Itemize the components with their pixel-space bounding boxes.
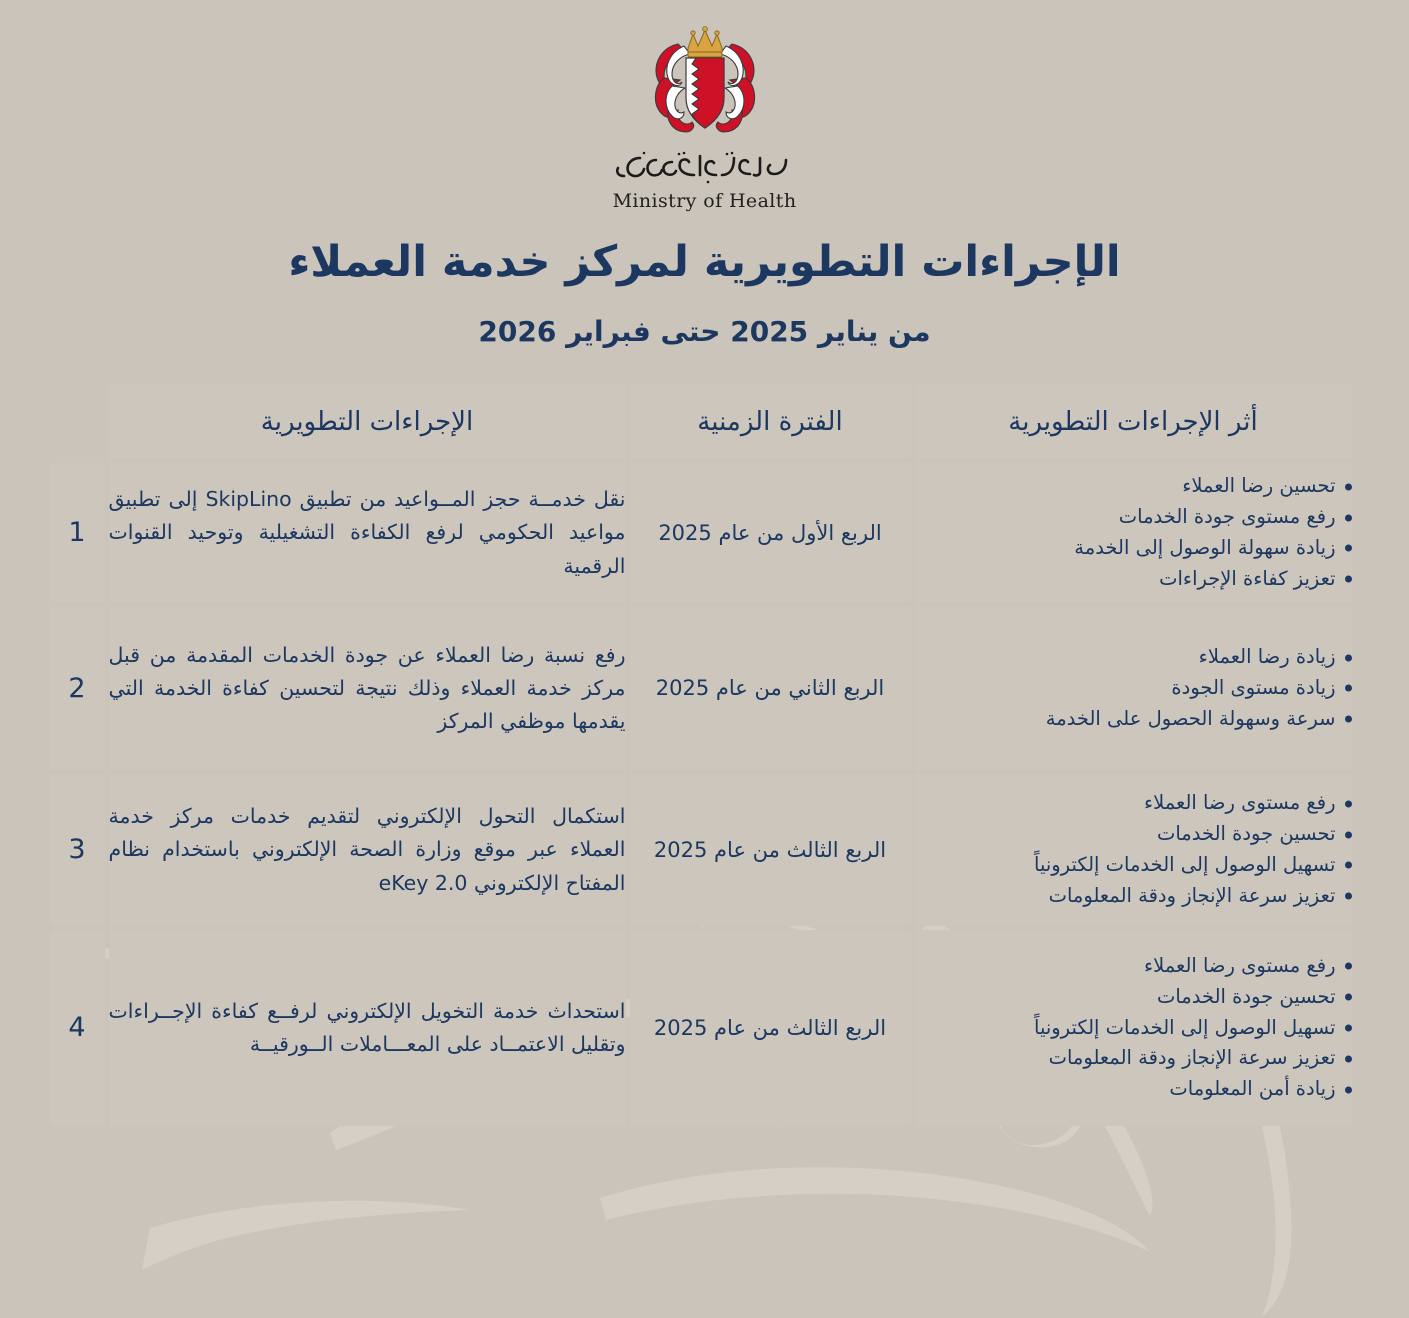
action-cell: رفع نسبة رضا العملاء عن جودة الخدمات الم… (109, 607, 626, 770)
impact-cell: رفع مستوى رضا العملاء تحسين جودة الخدمات… (915, 930, 1352, 1126)
ministry-name-arabic (610, 148, 800, 188)
column-header-action: الإجراءات التطويرية (109, 385, 626, 459)
page-subtitle: من يناير 2025 حتى فبراير 2026 (0, 315, 1409, 348)
list-item: زيادة سهولة الوصول إلى الخدمة (915, 533, 1352, 564)
action-cell: استكمال التحول الإلكتروني لتقديم خدمات م… (109, 774, 626, 926)
impact-cell: رفع مستوى رضا العملاء تحسين جودة الخدمات… (915, 774, 1352, 926)
list-item: زيادة أمن المعلومات (915, 1074, 1352, 1105)
ministry-branding: Ministry of Health (0, 0, 1409, 212)
period-cell: الربع الثاني من عام 2025 (630, 607, 911, 770)
row-number-cell: 2 (50, 607, 105, 770)
table-row: رفع مستوى رضا العملاء تحسين جودة الخدمات… (50, 930, 1352, 1126)
table-row: رفع مستوى رضا العملاء تحسين جودة الخدمات… (50, 774, 1352, 926)
impact-list: تحسين رضا العملاء رفع مستوى جودة الخدمات… (915, 471, 1352, 594)
list-item: رفع مستوى رضا العملاء (915, 951, 1352, 982)
list-item: تحسين جودة الخدمات (915, 819, 1352, 850)
impact-list: رفع مستوى رضا العملاء تحسين جودة الخدمات… (915, 951, 1352, 1105)
table-header: أثر الإجراءات التطويرية الفترة الزمنية ا… (50, 385, 1352, 459)
list-item: زيادة مستوى الجودة (915, 673, 1352, 704)
list-item: تسهيل الوصول إلى الخدمات إلكترونياً (915, 850, 1352, 881)
list-item: تعزيز سرعة الإنجاز ودقة المعلومات (915, 881, 1352, 912)
document-page: Ministry of Health الإجراءات التطويرية ل… (0, 0, 1409, 1278)
list-item: تسهيل الوصول إلى الخدمات إلكترونياً (915, 1013, 1352, 1044)
column-header-period: الفترة الزمنية (630, 385, 911, 459)
period-cell: الربع الثالث من عام 2025 (630, 774, 911, 926)
list-item: تعزيز كفاءة الإجراءات (915, 564, 1352, 595)
period-cell: الربع الأول من عام 2025 (630, 463, 911, 603)
row-number-cell: 3 (50, 774, 105, 926)
impact-list: زيادة رضا العملاء زيادة مستوى الجودة سرع… (915, 642, 1352, 734)
impact-list: رفع مستوى رضا العملاء تحسين جودة الخدمات… (915, 788, 1352, 911)
column-header-impact: أثر الإجراءات التطويرية (915, 385, 1352, 459)
impact-cell: زيادة رضا العملاء زيادة مستوى الجودة سرع… (915, 607, 1352, 770)
row-number-cell: 1 (50, 463, 105, 603)
improvements-table-wrapper: أثر الإجراءات التطويرية الفترة الزمنية ا… (54, 381, 1356, 1130)
action-cell: نقل خدمــة حجز المــواعيد من تطبيق SkipL… (109, 463, 626, 603)
list-item: رفع مستوى رضا العملاء (915, 788, 1352, 819)
improvements-table: أثر الإجراءات التطويرية الفترة الزمنية ا… (46, 381, 1356, 1130)
list-item: تحسين جودة الخدمات (915, 982, 1352, 1013)
bahrain-coat-of-arms-icon (644, 26, 766, 144)
list-item: رفع مستوى جودة الخدمات (915, 502, 1352, 533)
row-number-cell: 4 (50, 930, 105, 1126)
impact-cell: تحسين رضا العملاء رفع مستوى جودة الخدمات… (915, 463, 1352, 603)
list-item: سرعة وسهولة الحصول على الخدمة (915, 704, 1352, 735)
page-title: الإجراءات التطويرية لمركز خدمة العملاء (0, 238, 1409, 286)
table-body: تحسين رضا العملاء رفع مستوى جودة الخدمات… (50, 463, 1352, 1126)
table-row: تحسين رضا العملاء رفع مستوى جودة الخدمات… (50, 463, 1352, 603)
ministry-name-english: Ministry of Health (613, 190, 797, 212)
list-item: تعزيز سرعة الإنجاز ودقة المعلومات (915, 1043, 1352, 1074)
list-item: تحسين رضا العملاء (915, 471, 1352, 502)
table-header-row: أثر الإجراءات التطويرية الفترة الزمنية ا… (50, 385, 1352, 459)
action-cell: استحداث خدمة التخويل الإلكتروني لرفــع ك… (109, 930, 626, 1126)
table-row: زيادة رضا العملاء زيادة مستوى الجودة سرع… (50, 607, 1352, 770)
list-item: زيادة رضا العملاء (915, 642, 1352, 673)
period-cell: الربع الثالث من عام 2025 (630, 930, 911, 1126)
column-header-number (50, 385, 105, 459)
